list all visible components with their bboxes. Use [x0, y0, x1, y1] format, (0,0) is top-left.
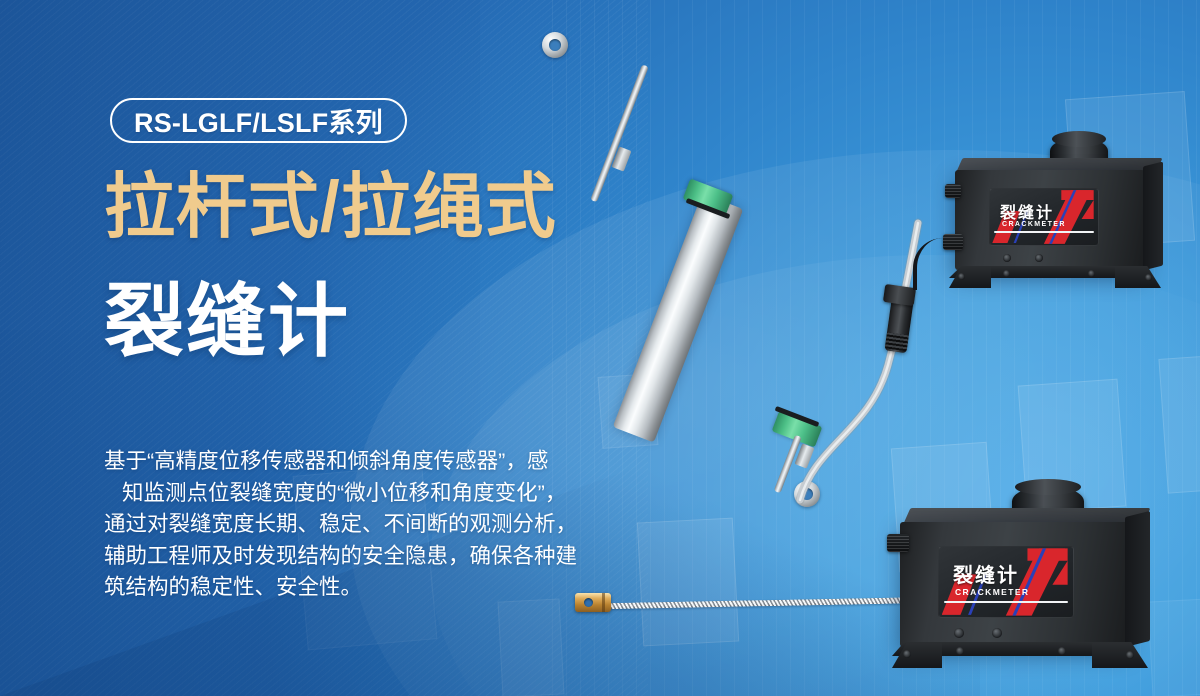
device-screw-lower [954, 628, 964, 638]
label-plate-upper-cn: 裂缝计 [1000, 199, 1054, 223]
crackmeter-upper: 裂缝计 CRACKMETER [955, 140, 1200, 305]
rod-stem-upper [590, 64, 648, 202]
label-plate-upper: 裂缝计 CRACKMETER [989, 188, 1099, 246]
label-plate-lower: 裂缝计 CRACKMETER [938, 546, 1074, 618]
description-line: 辅助工程师及时发现结构的安全隐患，确保各种建 [104, 541, 624, 573]
headline-gold: 拉杆式/拉绳式 [104, 172, 557, 243]
headline-white: 裂缝计 [104, 282, 350, 362]
foot-screw-upper [958, 273, 965, 280]
mounting-foot-upper-right [1115, 266, 1161, 288]
foot-screw-upper [1145, 274, 1152, 281]
label-plate-lower-cn: 裂缝计 [953, 559, 1019, 588]
mounting-foot-lower-right [1092, 642, 1148, 668]
crackmeter-lower: 裂缝计 CRACKMETER [900, 490, 1200, 696]
device-side-upper [1143, 162, 1163, 271]
foot-screw-lower [1126, 651, 1134, 659]
device-screw-upper [1003, 254, 1011, 262]
product-banner: RS-LGLF/LSLF系列 拉杆式/拉绳式 裂缝计 基于“高精度位移传感器和倾… [0, 0, 1200, 696]
foot-screw-lower [903, 650, 911, 658]
device-screw-upper [1035, 254, 1043, 262]
description-line: 通过对裂缝宽度长期、稳定、不间断的观测分析， [104, 509, 624, 541]
foot-screw-upper [1003, 270, 1010, 277]
cable-gland-lower [887, 534, 909, 552]
device-screw-lower [992, 628, 1002, 638]
cable-gland-upper-b [943, 234, 963, 250]
series-badge: RS-LGLF/LSLF系列 [110, 98, 407, 143]
foot-screw-upper [1088, 270, 1095, 277]
label-plate-lower-en: CRACKMETER [955, 587, 1029, 597]
description-line: 筑结构的稳定性、安全性。 [104, 572, 624, 604]
rod-eyelet-upper [542, 32, 568, 58]
foot-screw-lower [956, 647, 964, 655]
mounting-foot-lower-left [892, 642, 942, 668]
rope-end-ferrule [575, 593, 611, 612]
device-side-lower [1125, 511, 1150, 647]
series-badge-label: RS-LGLF/LSLF系列 [134, 101, 383, 140]
rod-barrel [613, 193, 744, 442]
label-plate-upper-en: CRACKMETER [1002, 221, 1066, 228]
cable-gland-upper-a [945, 184, 961, 198]
foot-screw-lower [1058, 647, 1066, 655]
